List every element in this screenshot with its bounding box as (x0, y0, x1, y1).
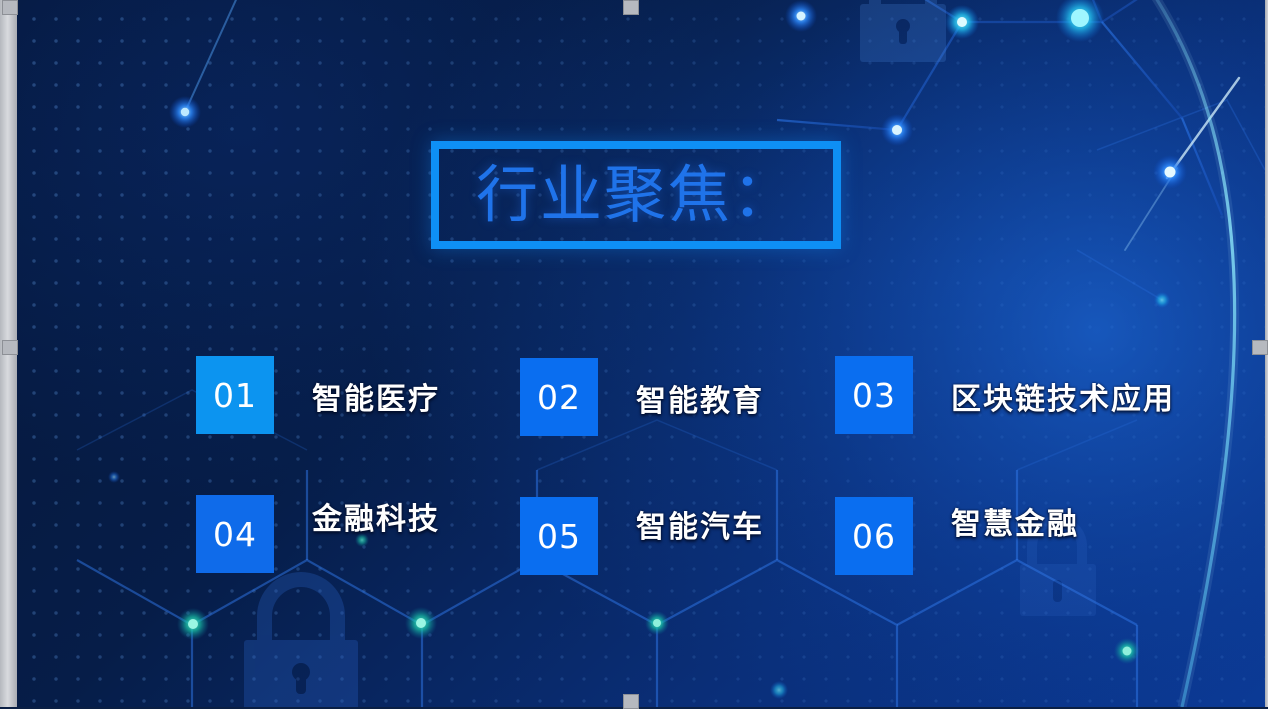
list-item-06[interactable]: 06 智慧金融 (835, 497, 1079, 575)
list-item-03[interactable]: 03 区块链技术应用 (835, 356, 1175, 434)
item-number-badge-03[interactable]: 03 (835, 356, 913, 434)
list-item-01[interactable]: 01 智能医疗 (196, 356, 440, 434)
industry-focus-list: 01 智能医疗 02 智能教育 03 区块链技术应用 (17, 348, 1265, 628)
item-number-06: 06 (852, 517, 896, 556)
item-label-01: 智能医疗 (312, 374, 440, 418)
item-number-05: 05 (537, 517, 581, 556)
list-item-04[interactable]: 04 金融科技 (196, 495, 440, 573)
item-number-badge-04[interactable]: 04 (196, 495, 274, 573)
item-label-03: 区块链技术应用 (951, 374, 1175, 418)
item-row-1: 01 智能医疗 02 智能教育 03 区块链技术应用 (17, 348, 1265, 488)
list-item-05[interactable]: 05 智能汽车 (520, 497, 764, 575)
item-number-02: 02 (537, 378, 581, 417)
item-number-04: 04 (213, 515, 257, 554)
selection-grip-top[interactable] (623, 0, 639, 15)
padlock-icon-top (860, 0, 946, 62)
item-number-03: 03 (852, 376, 896, 415)
slide-canvas[interactable]: 行业聚焦： 01 智能医疗 02 智能教育 (17, 0, 1265, 707)
slide-editor-frame: 行业聚焦： 01 智能医疗 02 智能教育 (0, 0, 1268, 707)
selection-grip-left[interactable] (2, 340, 18, 355)
item-label-02: 智能教育 (636, 376, 764, 420)
slide-title-box[interactable]: 行业聚焦： (431, 141, 841, 249)
item-label-04: 金融科技 (312, 494, 440, 538)
list-item-02[interactable]: 02 智能教育 (520, 358, 764, 436)
item-number-01: 01 (213, 376, 257, 415)
selection-grip-right[interactable] (1252, 340, 1268, 355)
item-number-badge-05[interactable]: 05 (520, 497, 598, 575)
selection-grip-top-left[interactable] (2, 0, 18, 15)
item-number-badge-01[interactable]: 01 (196, 356, 274, 434)
item-number-badge-02[interactable]: 02 (520, 358, 598, 436)
item-label-06: 智慧金融 (951, 499, 1079, 543)
item-label-05: 智能汽车 (636, 502, 764, 546)
page-title: 行业聚焦： (476, 164, 796, 226)
item-number-badge-06[interactable]: 06 (835, 497, 913, 575)
item-row-2: 04 金融科技 05 智能汽车 06 智慧金融 (17, 488, 1265, 628)
